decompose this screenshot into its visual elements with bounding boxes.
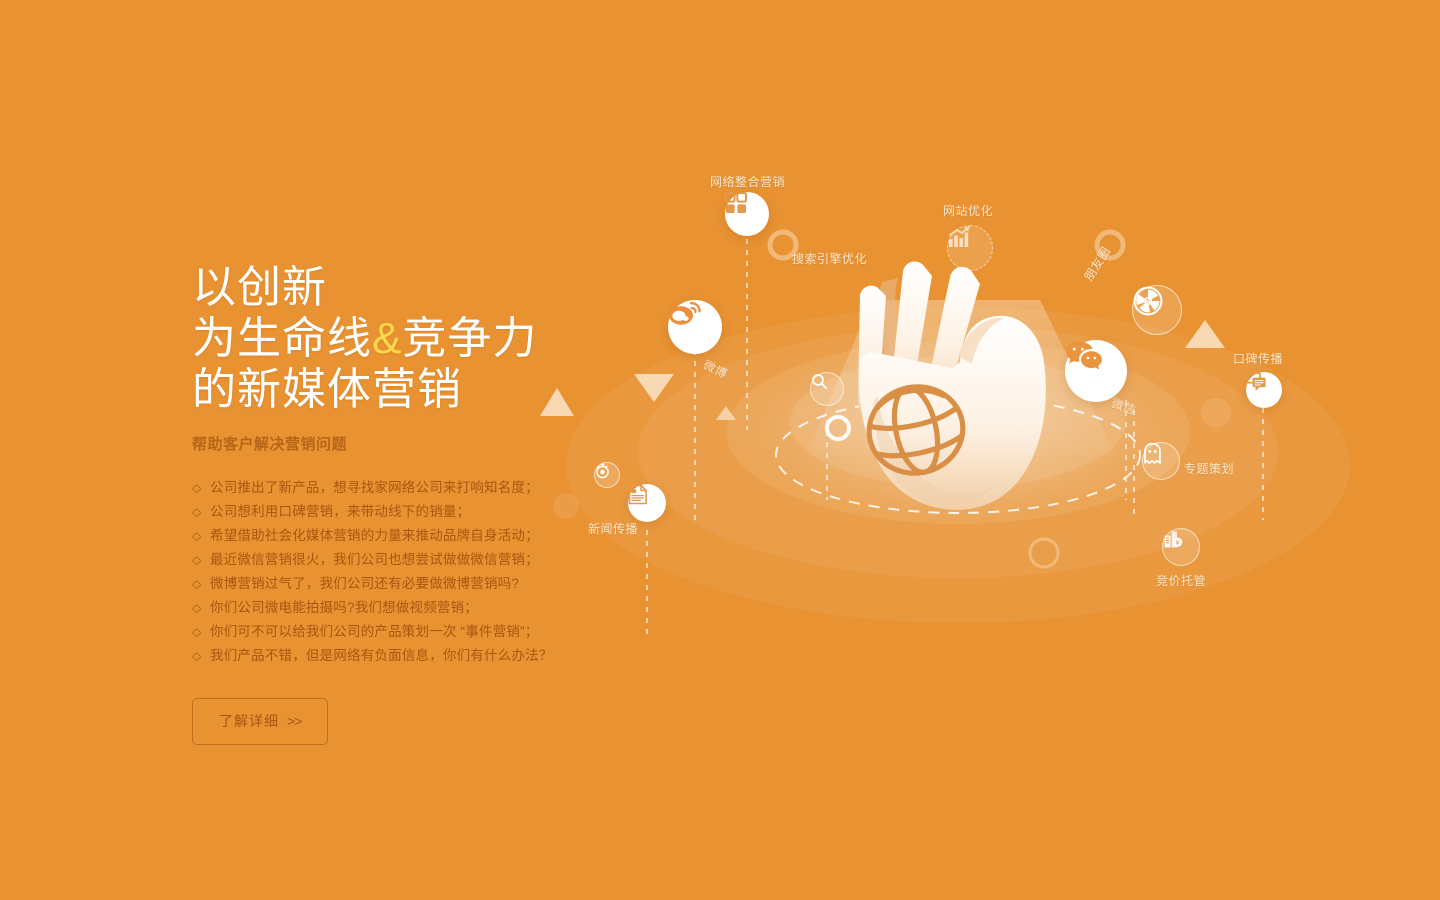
document-icon [628,484,648,505]
dot-decoration [1201,398,1231,428]
diamond-bullet-icon: ◇ [192,476,203,500]
hero-banner: 以创新 为生命线&竞争力 的新媒体营销 帮助客户解决营销问题 ◇公司推出了新产品… [0,0,1440,900]
wechat-icon [1065,340,1103,372]
magnifier-icon [811,373,828,390]
node-site-optimization[interactable] [947,225,993,271]
node-seo[interactable] [810,372,844,406]
chat-bubbles-icon [1246,372,1267,391]
diamond-bullet-icon: ◇ [192,596,203,620]
diamond-bullet-icon: ◇ [192,572,203,596]
chevron-right-double-icon: >> [287,713,301,729]
node-bid-hosting[interactable]: ¥ [1162,528,1200,566]
node-label-integrated-marketing: 网络整合营销 [710,173,785,190]
node-topic-planning[interactable] [1142,442,1180,480]
node-weibo[interactable] [668,300,722,354]
list-item-label: 公司想利用口碑营销，来带动线下的销量； [210,504,470,519]
three-finger-hand-icon [858,262,1046,510]
bar-chart-arrow-icon [948,226,972,248]
list-item-label: 你们可不可以给我们公司的产品策划一次 “事件营销”； [210,624,538,639]
node-wechat[interactable] [1065,340,1127,402]
headline-line-2-part-b: 竞争力 [402,314,537,363]
weibo-icon [668,300,702,326]
list-item-label: 公司推出了新产品，想寻找家网络公司来打响知名度； [210,480,539,495]
list-item-label: 我们产品不错，但是网络有负面信息，你们有什么办法？ [210,648,553,663]
marketing-illustration: 网络整合营销 搜索引擎优化 网站优化 [520,100,1400,700]
headline-ampersand: & [372,314,402,363]
stopwatch-icon [595,463,610,479]
node-label-news-distribution: 新闻传播 [588,520,638,537]
buildings-chart-icon: ¥ [1163,529,1183,549]
aperture-icon [1133,286,1163,316]
learn-more-label: 了解详细 [219,713,279,729]
dot-decoration [553,493,579,519]
diamond-bullet-icon: ◇ [192,548,203,572]
ghost-robot-icon [1143,443,1162,464]
diamond-bullet-icon: ◇ [192,524,203,548]
node-label-bid-hosting: 竞价托管 [1156,572,1206,589]
triangle-up-icon-right [1185,320,1225,348]
list-item-label: 最近微信营销很火，我们公司也想尝试做做微信营销； [210,552,539,567]
node-news-distribution[interactable] [628,484,666,522]
node-label-word-of-mouth: 口碑传播 [1233,350,1283,367]
list-item-label: 微博营销过气了，我们公司还有必要做微博营销吗? [210,576,519,591]
diamond-bullet-icon: ◇ [192,620,203,644]
list-item-label: 希望借助社会化媒体营销的力量来推动品牌自身活动； [210,528,539,543]
diamond-bullet-icon: ◇ [192,644,203,668]
triangle-up-icon-left [540,388,574,416]
headline-line-2-part-a: 为生命线 [192,314,372,363]
node-stopwatch-decoration[interactable] [594,462,620,488]
grid-squares-icon [725,192,747,214]
svg-text:¥: ¥ [1176,540,1180,547]
node-moments[interactable] [1132,285,1182,335]
node-label-site-optimization: 网站优化 [943,202,993,219]
node-word-of-mouth[interactable] [1246,372,1282,408]
learn-more-button[interactable]: 了解详细>> [192,698,328,745]
diamond-bullet-icon: ◇ [192,500,203,524]
node-label-seo: 搜索引擎优化 [792,250,867,267]
node-label-topic-planning: 专题策划 [1184,460,1234,477]
node-integrated-marketing[interactable] [725,192,769,236]
list-item-label: 你们公司微电能拍摄吗?我们想做视频营销； [210,600,478,615]
